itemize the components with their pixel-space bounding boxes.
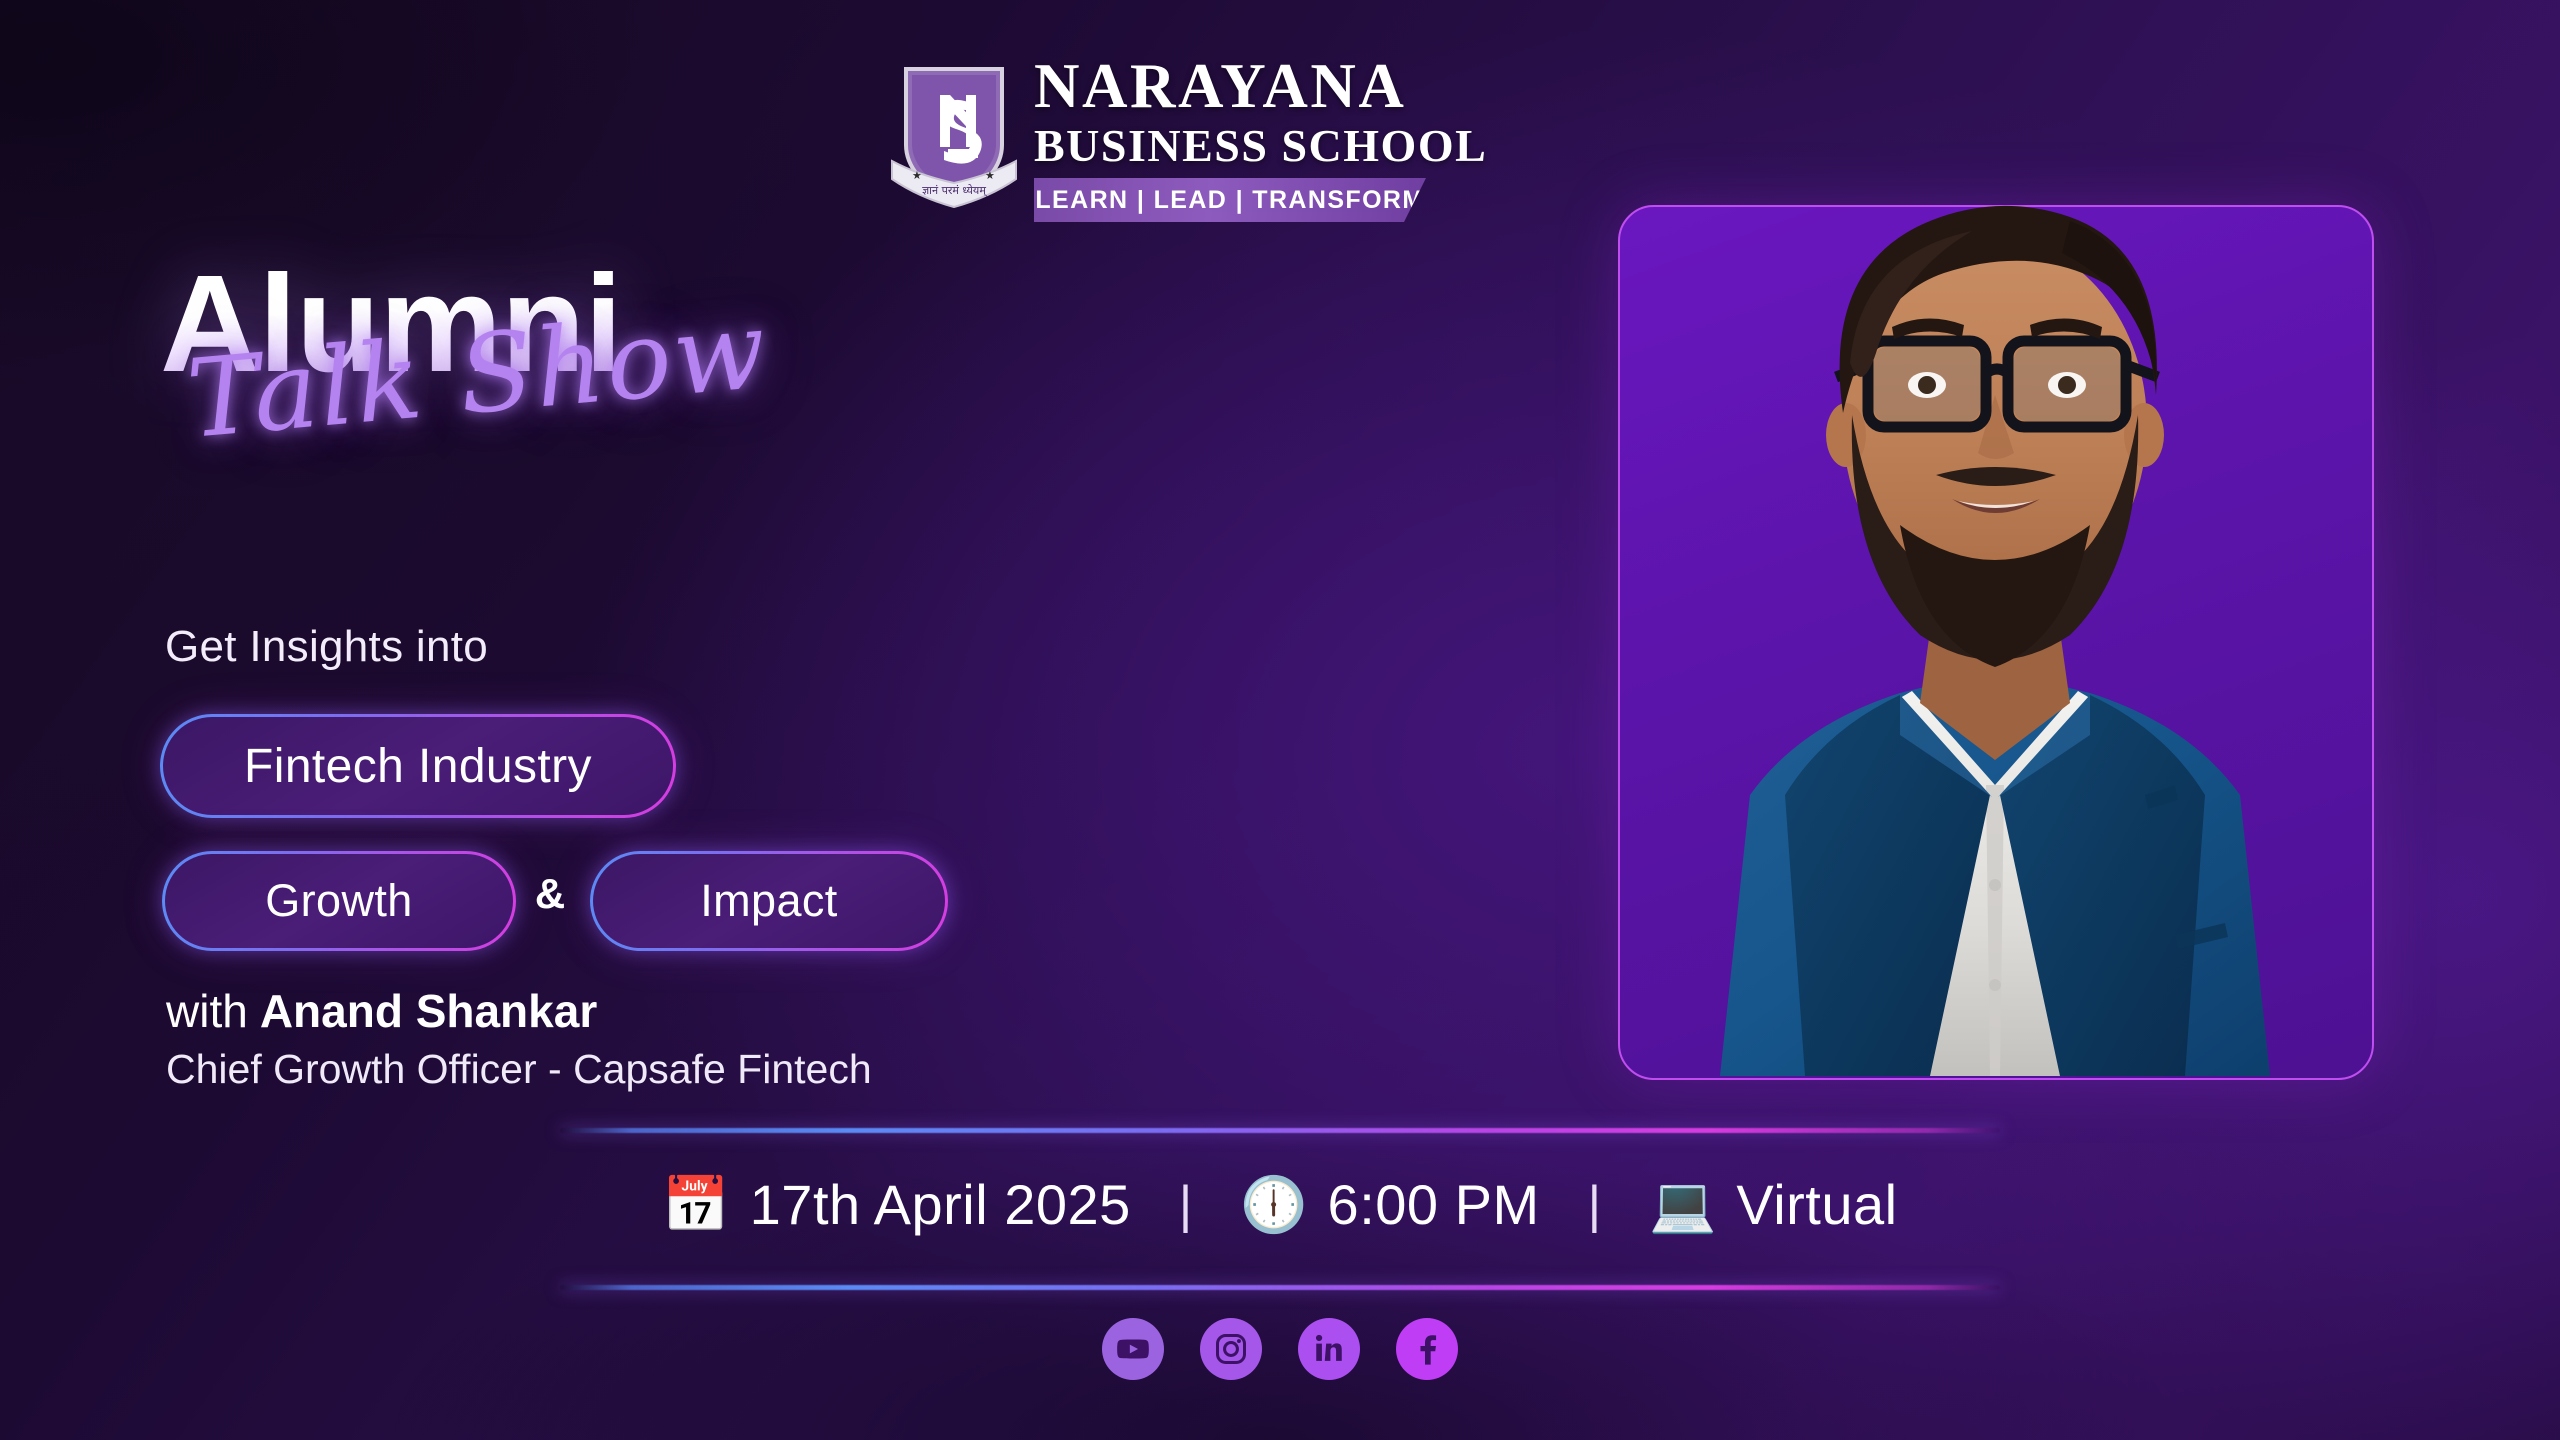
event-date-item: 📅 17th April 2025 <box>662 1172 1130 1237</box>
speaker-role: Chief Growth Officer - Capsafe Fintech <box>166 1046 872 1093</box>
event-separator: | <box>1165 1175 1207 1235</box>
brand-logo: ★ ★ ज्ञानं परमं ध्येयम् NARAYANA BUSINES… <box>888 55 1487 222</box>
instagram-glyph <box>1213 1331 1249 1367</box>
topic-pill-fintech-industry: Fintech Industry <box>160 714 676 818</box>
event-date: 17th April 2025 <box>750 1172 1131 1237</box>
brand-name-line2: BUSINESS SCHOOL <box>1034 123 1487 169</box>
topics-conjunction: & <box>525 870 575 918</box>
speaker-portrait-illustration <box>1600 95 2390 1076</box>
topic-pill-impact: Impact <box>590 851 948 951</box>
topic-pill-label: Impact <box>700 875 837 927</box>
speaker-with-label: with <box>166 985 248 1037</box>
topic-pill-inner: Impact <box>593 854 945 948</box>
facebook-glyph <box>1410 1332 1444 1366</box>
divider-top <box>560 1128 2000 1133</box>
laptop-icon: 💻 <box>1649 1178 1716 1232</box>
event-poster: ★ ★ ज्ञानं परमं ध्येयम् NARAYANA BUSINES… <box>0 0 2560 1440</box>
headline-block: Alumni Talk Show <box>160 258 769 463</box>
svg-text:ज्ञानं परमं ध्येयम्: ज्ञानं परमं ध्येयम् <box>922 184 988 197</box>
topic-pill-inner: Fintech Industry <box>163 717 673 815</box>
instagram-icon[interactable] <box>1200 1318 1262 1380</box>
brand-tagline-bar: LEARN | LEAD | TRANSFORM <box>1034 178 1426 222</box>
event-mode-item: 💻 Virtual <box>1649 1172 1897 1237</box>
calendar-icon: 📅 <box>662 1178 729 1232</box>
topic-pill-growth: Growth <box>162 851 516 951</box>
speaker-name-line: withAnand Shankar <box>166 984 597 1038</box>
brand-tagline-text: LEARN | LEAD | TRANSFORM <box>1035 186 1424 215</box>
linkedin-glyph <box>1312 1332 1346 1366</box>
linkedin-icon[interactable] <box>1298 1318 1360 1380</box>
event-mode: Virtual <box>1736 1172 1897 1237</box>
event-separator: | <box>1574 1175 1616 1235</box>
topic-pill-inner: Growth <box>165 854 513 948</box>
youtube-icon[interactable] <box>1102 1318 1164 1380</box>
topic-pill-label: Growth <box>265 875 412 927</box>
social-links <box>0 1318 2560 1380</box>
brand-name-line1: NARAYANA <box>1034 55 1487 118</box>
topic-pill-label: Fintech Industry <box>244 739 592 794</box>
narayana-shield-crest-icon: ★ ★ ज्ञानं परमं ध्येयम् <box>888 57 1020 217</box>
event-time: 6:00 PM <box>1328 1172 1540 1237</box>
speaker-photo <box>1600 95 2390 1076</box>
youtube-glyph <box>1114 1330 1152 1368</box>
svg-text:★: ★ <box>912 169 922 182</box>
brand-wordmark: NARAYANA BUSINESS SCHOOL LEARN | LEAD | … <box>1034 55 1487 222</box>
event-details-bar: 📅 17th April 2025 | 🕕 6:00 PM | 💻 Virtua… <box>0 1172 2560 1237</box>
svg-text:★: ★ <box>985 169 995 182</box>
speaker-name: Anand Shankar <box>260 985 597 1037</box>
divider-bottom <box>560 1285 2000 1290</box>
facebook-icon[interactable] <box>1396 1318 1458 1380</box>
event-time-item: 🕕 6:00 PM <box>1240 1172 1539 1237</box>
clock-icon: 🕕 <box>1240 1178 1307 1232</box>
topics-intro: Get Insights into <box>165 622 488 672</box>
